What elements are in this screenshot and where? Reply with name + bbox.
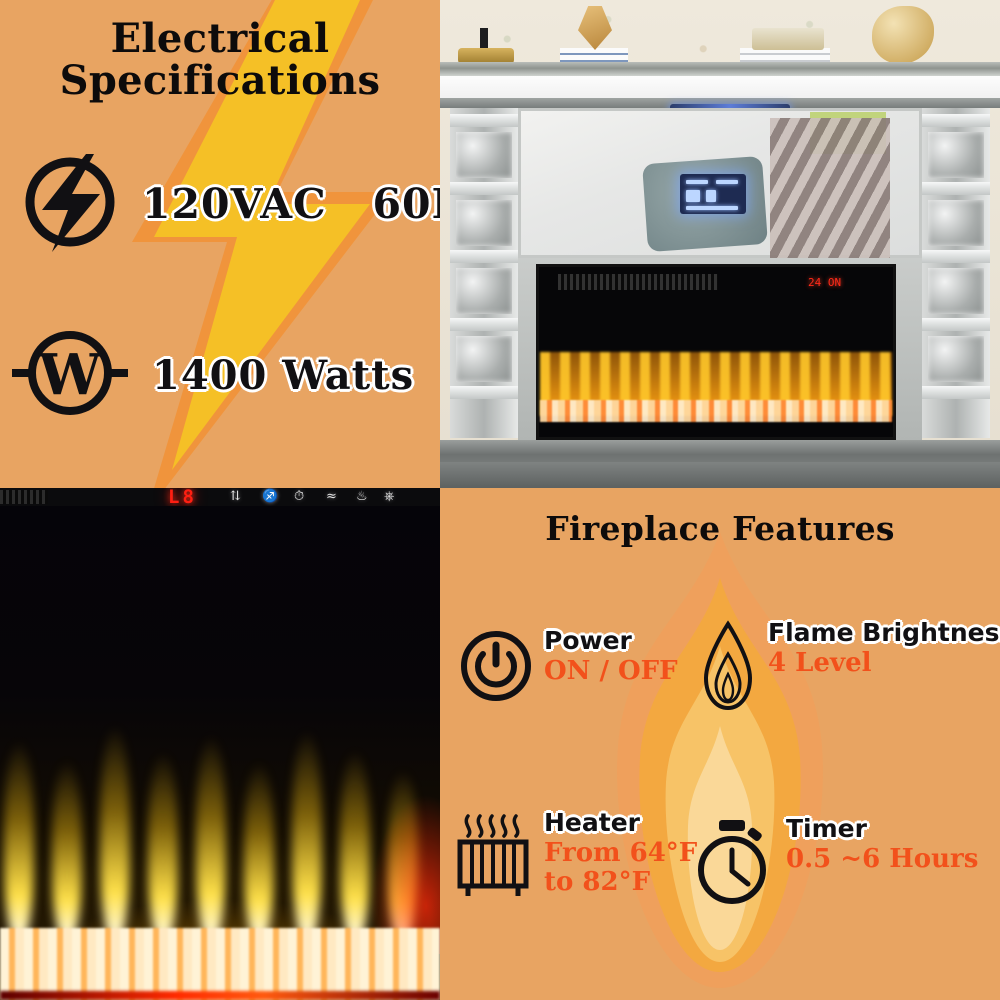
specs-title-line-1: Electrical (0, 18, 440, 60)
page-title: Electrical Specifications (0, 18, 440, 103)
feature-flame-label: Flame Brightness (768, 620, 1000, 646)
bottom-red-glow (0, 991, 440, 1000)
feature-heater-label: Heater (544, 810, 697, 836)
insert-vent-grille (558, 274, 718, 290)
svg-text:W: W (38, 342, 103, 408)
specs-title-line-2: Specifications (0, 60, 440, 102)
crystal-column-left (450, 108, 518, 438)
control-panel: L8 ⇅ ♐ ⏱ ≈ ♨ ⎈ (0, 488, 440, 506)
power-button-icon (458, 628, 534, 708)
reflected-led-display (680, 174, 746, 214)
crystal-ember-bed (0, 928, 440, 1000)
insert-led-readout: 24 ON (808, 272, 872, 292)
spec-row-wattage: W 1400 Watts (10, 318, 414, 432)
temperature-icon[interactable]: ♐ (262, 489, 278, 504)
glass-jar-tray (752, 28, 824, 50)
power-icon[interactable]: ⎈ (384, 489, 394, 504)
feature-heater-value: From 64°F to 82°F (544, 839, 697, 897)
reflected-chevron-throw (770, 118, 890, 258)
firebox-interior (0, 506, 440, 1000)
features-title: Fireplace Features (440, 512, 1000, 547)
feature-power: Power ON / OFF (458, 628, 678, 708)
spec-row-voltage: 120VAC 60Hz (16, 148, 440, 260)
crystal-column-right (922, 108, 990, 438)
fireplace-features-panel: Fireplace Features Power ON / OFF (440, 488, 1000, 1000)
heat-waves-icon[interactable]: ≈ (326, 489, 337, 504)
feature-heater: Heater From 64°F to 82°F (452, 810, 697, 906)
flame-droplet-icon (698, 620, 758, 716)
flame-up-down-icon[interactable]: ⇅ (230, 489, 241, 504)
timer-icon[interactable]: ⏱ (294, 489, 304, 504)
led-display: L8 (168, 488, 197, 508)
feature-timer-value: 0.5 ~6 Hours (786, 845, 978, 874)
feature-power-value: ON / OFF (544, 657, 678, 686)
product-infographic: Electrical Specifications 120VAC 60Hz W (0, 0, 1000, 1000)
flame-icon[interactable]: ♨ (356, 489, 368, 504)
mantel-face (440, 76, 1000, 98)
flame-background-graphic (570, 526, 870, 996)
mantel-top-edge (440, 62, 1000, 76)
electrical-specifications-panel: Electrical Specifications 120VAC 60Hz W (0, 0, 440, 488)
feature-flame-value: 4 Level (768, 649, 1000, 678)
voltage-value: 120VAC 60Hz (142, 180, 440, 228)
wattage-value: 1400 Watts (152, 352, 414, 399)
feature-timer: Timer 0.5 ~6 Hours (690, 816, 978, 912)
feature-timer-label: Timer (786, 816, 978, 842)
product-photo: 24 ON (440, 0, 1000, 488)
feature-flame-brightness: Flame Brightness 4 Level (698, 620, 1000, 716)
lightning-bolt-circle-icon (16, 148, 124, 260)
wattage-meter-icon: W (10, 318, 130, 432)
feature-power-label: Power (544, 628, 678, 654)
ember-bed (540, 400, 892, 422)
vent-grille-icon (0, 490, 48, 504)
stopwatch-timer-icon (690, 816, 776, 912)
heater-radiator-icon (452, 810, 534, 906)
hearth-plinth (440, 462, 1000, 488)
insert-display-value: 24 ON (808, 276, 841, 289)
flame-closeup-photo: L8 ⇅ ♐ ⏱ ≈ ♨ ⎈ (0, 488, 440, 1000)
